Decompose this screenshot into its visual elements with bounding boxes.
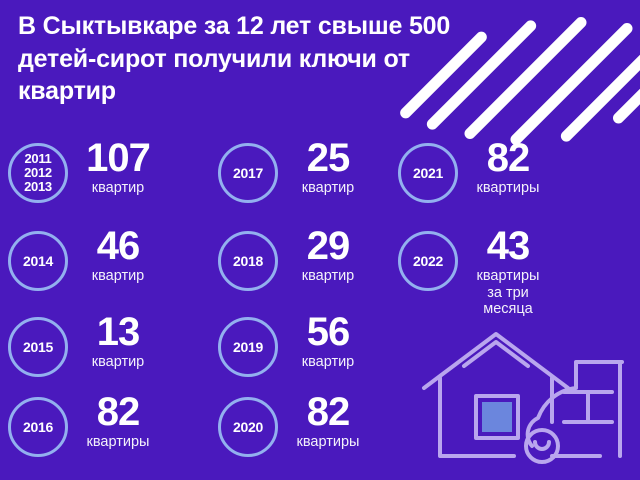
stat-value: 82 — [470, 139, 546, 177]
stat-figures: 43квартиры за три месяца — [470, 227, 546, 317]
stat-value: 43 — [470, 227, 546, 265]
stat-value: 25 — [290, 139, 366, 177]
year-label: 2015 — [23, 340, 53, 355]
stat-unit: квартир — [290, 354, 366, 370]
stat-unit: квартиры — [80, 434, 156, 450]
stat-item: 201446квартир — [8, 227, 156, 291]
stat-figures: 56квартир — [290, 313, 366, 371]
stat-unit: квартир — [290, 180, 366, 196]
stat-item: 202243квартиры за три месяца — [398, 227, 546, 317]
stat-value: 82 — [290, 393, 366, 431]
stat-unit: квартир — [290, 268, 366, 284]
year-label: 2021 — [413, 166, 443, 181]
stat-figures: 29квартир — [290, 227, 366, 285]
stat-figures: 82квартиры — [80, 393, 156, 451]
stats-column-1: 2011 2012 2013107квартир201446квартир201… — [8, 135, 223, 480]
stripe-4 — [508, 21, 635, 148]
stat-value: 56 — [290, 313, 366, 351]
stat-value: 13 — [80, 313, 156, 351]
year-label: 2011 2012 2013 — [24, 152, 52, 193]
year-label: 2017 — [233, 166, 263, 181]
stat-item: 201682квартиры — [8, 393, 156, 457]
stat-value: 107 — [80, 139, 156, 177]
year-label: 2014 — [23, 254, 53, 269]
stat-unit: квартиры — [290, 434, 366, 450]
stat-unit: квартир — [80, 268, 156, 284]
stat-item: 201513квартир — [8, 313, 156, 377]
year-label: 2022 — [413, 254, 443, 269]
year-circle: 2016 — [8, 397, 68, 457]
stat-figures: 13квартир — [80, 313, 156, 371]
year-circle: 2015 — [8, 317, 68, 377]
stripe-5 — [559, 30, 640, 144]
stat-figures: 82квартиры — [470, 139, 546, 197]
year-circle: 2018 — [218, 231, 278, 291]
stat-unit: квартир — [80, 180, 156, 196]
stat-value: 46 — [80, 227, 156, 265]
infographic-poster: В Сыктывкаре за 12 лет свыше 500 детей-с… — [0, 0, 640, 480]
year-circle: 2014 — [8, 231, 68, 291]
stripe-6 — [611, 40, 640, 126]
year-label: 2016 — [23, 420, 53, 435]
year-circle: 2020 — [218, 397, 278, 457]
stat-figures: 82квартиры — [290, 393, 366, 451]
stat-figures: 25квартир — [290, 139, 366, 197]
page-title: В Сыктывкаре за 12 лет свыше 500 детей-с… — [18, 10, 488, 108]
stat-item: 2011 2012 2013107квартир — [8, 139, 156, 203]
stat-figures: 46квартир — [80, 227, 156, 285]
stat-value: 82 — [80, 393, 156, 431]
stat-unit: квартиры — [470, 180, 546, 196]
year-circle: 2019 — [218, 317, 278, 377]
year-label: 2018 — [233, 254, 263, 269]
stat-unit: квартир — [80, 354, 156, 370]
year-circle: 2022 — [398, 231, 458, 291]
year-circle: 2011 2012 2013 — [8, 143, 68, 203]
stat-item: 201829квартир — [218, 227, 366, 291]
stat-item: 202082квартиры — [218, 393, 366, 457]
stat-figures: 107квартир — [80, 139, 156, 197]
stat-unit: квартиры за три месяца — [470, 268, 546, 317]
year-circle: 2017 — [218, 143, 278, 203]
year-label: 2019 — [233, 340, 263, 355]
stat-value: 29 — [290, 227, 366, 265]
stat-item: 201725квартир — [218, 139, 366, 203]
stats-grid: 2011 2012 2013107квартир201446квартир201… — [0, 135, 640, 480]
stats-column-3: 202182квартиры202243квартиры за три меся… — [398, 135, 613, 480]
year-label: 2020 — [233, 420, 263, 435]
stat-item: 202182квартиры — [398, 139, 546, 203]
stat-item: 201956квартир — [218, 313, 366, 377]
year-circle: 2021 — [398, 143, 458, 203]
